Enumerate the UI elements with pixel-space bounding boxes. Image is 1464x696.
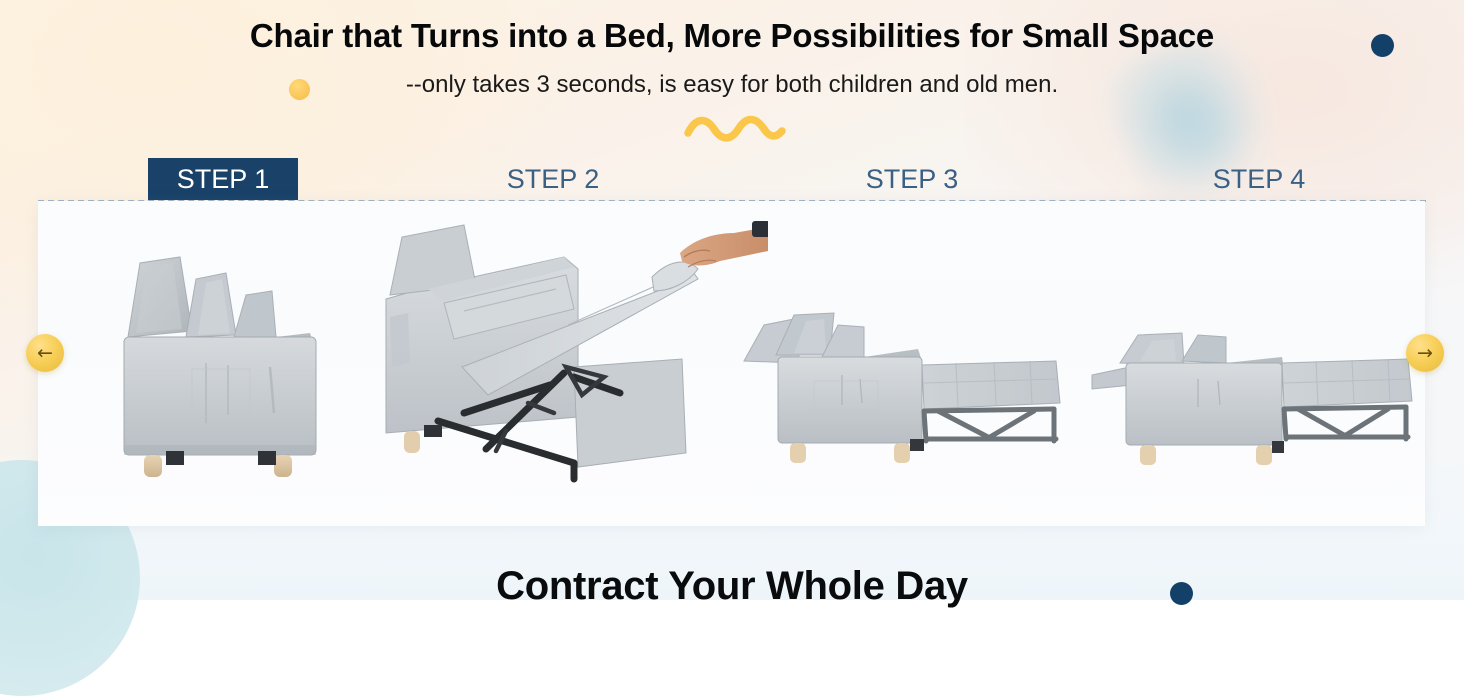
steps-panel bbox=[38, 201, 1425, 526]
slide-step-3-half-extended bbox=[738, 299, 1068, 479]
carousel-prev-button[interactable]: ← bbox=[26, 334, 64, 372]
slide-step-4-bed-flat bbox=[1086, 301, 1416, 477]
page-subtitle: --only takes 3 seconds, is easy for both… bbox=[0, 71, 1464, 99]
navy-dot-icon bbox=[1371, 34, 1394, 57]
bottom-heading: Contract Your Whole Day bbox=[0, 564, 1464, 609]
slide-step-2-pulling-out bbox=[368, 217, 768, 507]
navy-dot-icon-bottom bbox=[1170, 582, 1193, 605]
wavy-line-icon bbox=[684, 114, 786, 144]
arrow-left-icon: ← bbox=[37, 344, 53, 363]
step-tabs[interactable]: STEP 1 STEP 2 STEP 3 STEP 4 bbox=[38, 158, 1426, 202]
page-title: Chair that Turns into a Bed, More Possib… bbox=[0, 17, 1464, 55]
carousel-next-button[interactable]: → bbox=[1406, 334, 1444, 372]
steps-panel-inner bbox=[38, 201, 1425, 526]
slide-step-1-chair-closed bbox=[110, 245, 340, 485]
step-tab-4[interactable]: STEP 4 bbox=[1184, 158, 1334, 200]
step-tab-1[interactable]: STEP 1 bbox=[148, 158, 298, 200]
step-tab-2[interactable]: STEP 2 bbox=[478, 158, 628, 200]
step-tab-3[interactable]: STEP 3 bbox=[837, 158, 987, 200]
arrow-right-icon: → bbox=[1417, 344, 1433, 363]
